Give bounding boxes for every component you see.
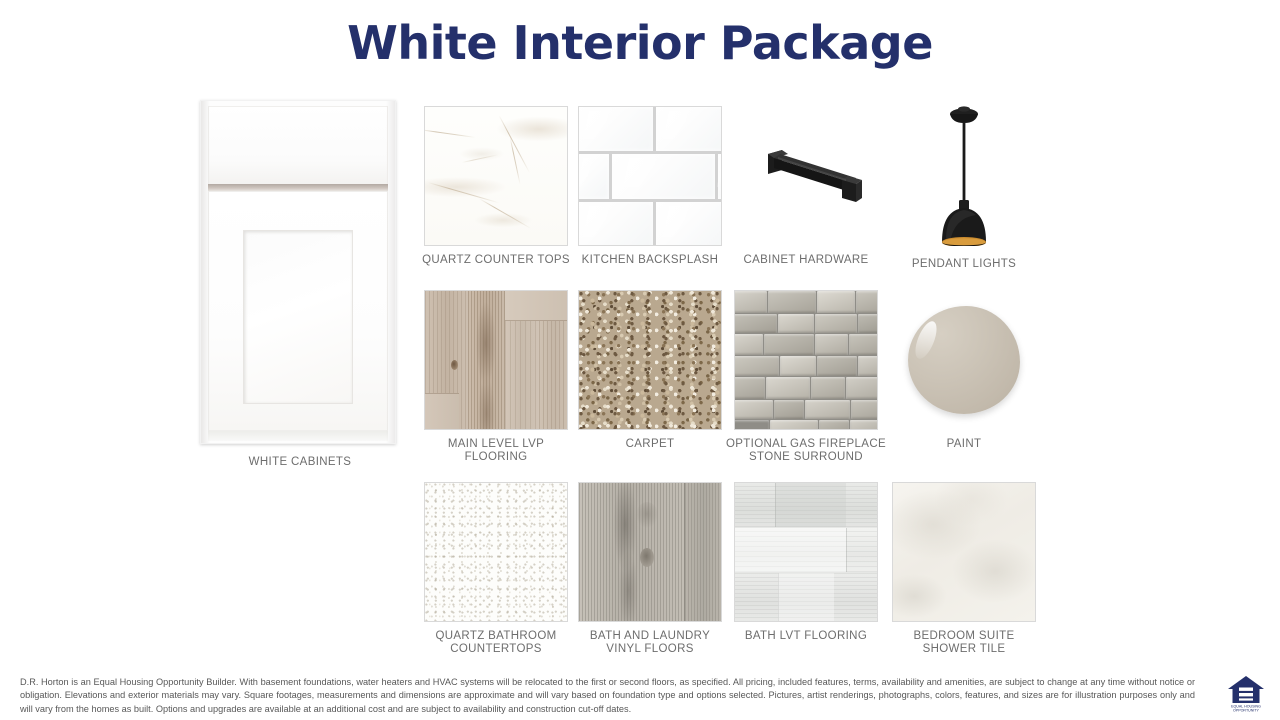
main-level-lvp-flooring-image [424, 290, 568, 430]
swatch-bath-and-laundry-vinyl-floors[interactable]: BATH AND LAUNDRY VINYL FLOORS [578, 482, 730, 656]
swatch-label-bath-and-laundry-vinyl-floors: BATH AND LAUNDRY VINYL FLOORS [570, 630, 730, 656]
swatch-white-cabinets[interactable]: WHITE CABINETS [200, 100, 400, 469]
cabinet-hardware-image [734, 106, 878, 246]
paint-color-blob [908, 306, 1020, 414]
quartz-bath-label-line1: QUARTZ BATHROOM [435, 630, 556, 642]
stone-surround-label-line2: STONE SURROUND [749, 451, 863, 463]
cabinet-door-front [208, 191, 388, 431]
swatch-bath-lvt-flooring[interactable]: BATH LVT FLOORING [734, 482, 886, 643]
swatch-paint[interactable]: PAINT [892, 290, 1044, 451]
carpet-texture [579, 291, 721, 429]
swatch-label-quartz-bathroom-countertops: QUARTZ BATHROOM COUNTERTOPS [416, 630, 576, 656]
paint-image [892, 290, 1036, 430]
swatch-quartz-counter-tops[interactable]: QUARTZ COUNTER TOPS [424, 106, 576, 267]
lvt-linear-stone-texture [735, 483, 877, 621]
concrete-look-tile-texture [893, 483, 1035, 621]
pendant-light-icon [924, 100, 1004, 246]
shower-tile-label-line2: SHOWER TILE [923, 643, 1006, 655]
cabinet-left-shadow [201, 101, 210, 443]
ledger-stone-texture [735, 291, 877, 429]
swatch-label-white-cabinets: WHITE CABINETS [200, 456, 400, 469]
swatch-pendant-lights[interactable]: PENDANT LIGHTS [892, 100, 1044, 271]
quartz-texture [425, 107, 567, 245]
swatch-label-cabinet-hardware: CABINET HARDWARE [726, 254, 886, 267]
bath-laundry-label-line1: BATH AND LAUNDRY [590, 630, 710, 642]
subway-tile-texture [579, 107, 721, 245]
quartz-counter-tops-image [424, 106, 568, 246]
swatch-optional-gas-fireplace-stone-surround[interactable]: OPTIONAL GAS FIREPLACE STONE SURROUND [734, 290, 896, 464]
cabinet-drawer-reveal [208, 184, 388, 191]
bath-laundry-label-line2: VINYL FLOORS [606, 643, 694, 655]
cabinet-bottom-rail [208, 431, 388, 441]
swatch-bedroom-suite-shower-tile[interactable]: BEDROOM SUITE SHOWER TILE [892, 482, 1044, 656]
swatch-quartz-bathroom-countertops[interactable]: QUARTZ BATHROOM COUNTERTOPS [424, 482, 576, 656]
page-title: White Interior Package [0, 16, 1280, 70]
swatch-label-bedroom-suite-shower-tile: BEDROOM SUITE SHOWER TILE [884, 630, 1044, 656]
quartz-bath-label-line2: COUNTERTOPS [450, 643, 542, 655]
swatch-kitchen-backsplash[interactable]: KITCHEN BACKSPLASH [578, 106, 730, 267]
stone-surround-label-line1: OPTIONAL GAS FIREPLACE [726, 438, 886, 450]
cabinet-right-shadow [386, 101, 395, 443]
swatch-label-paint: PAINT [884, 438, 1044, 451]
swatch-label-carpet: CARPET [570, 438, 730, 451]
swatch-main-level-lvp-flooring[interactable]: MAIN LEVEL LVP FLOORING [424, 290, 576, 464]
bath-lvt-flooring-image [734, 482, 878, 622]
swatch-label-pendant-lights: PENDANT LIGHTS [884, 258, 1044, 271]
cabinet-drawer-front [208, 106, 388, 184]
swatch-label-bath-lvt-flooring: BATH LVT FLOORING [726, 630, 886, 643]
swatch-label-kitchen-backsplash: KITCHEN BACKSPLASH [570, 254, 730, 267]
swatch-cabinet-hardware[interactable]: CABINET HARDWARE [734, 106, 886, 267]
white-cabinets-image [200, 100, 396, 444]
bar-pull-icon [746, 136, 866, 216]
lvp-wood-texture [425, 291, 567, 429]
kitchen-backsplash-image [578, 106, 722, 246]
bedroom-suite-shower-tile-image [892, 482, 1036, 622]
swatch-label-main-level-lvp-flooring: MAIN LEVEL LVP FLOORING [416, 438, 576, 464]
svg-text:OPPORTUNITY: OPPORTUNITY [1233, 708, 1259, 712]
bath-laundry-vinyl-image [578, 482, 722, 622]
swatch-label-quartz-counter-tops: QUARTZ COUNTER TOPS [416, 254, 576, 267]
equal-housing-opportunity-logo: EQUAL HOUSING OPPORTUNITY [1224, 670, 1268, 714]
stone-surround-image [734, 290, 878, 430]
footer-disclaimer: D.R. Horton is an Equal Housing Opportun… [20, 676, 1195, 716]
shower-tile-label-line1: BEDROOM SUITE [913, 630, 1014, 642]
cabinet-recessed-panel [243, 230, 353, 404]
speckled-quartz-texture [425, 483, 567, 621]
carpet-image [578, 290, 722, 430]
quartz-bathroom-countertops-image [424, 482, 568, 622]
swatch-carpet[interactable]: CARPET [578, 290, 730, 451]
swatch-label-stone-surround: OPTIONAL GAS FIREPLACE STONE SURROUND [716, 438, 896, 464]
pendant-lights-image [892, 100, 1036, 246]
gray-wood-vinyl-texture [579, 483, 721, 621]
